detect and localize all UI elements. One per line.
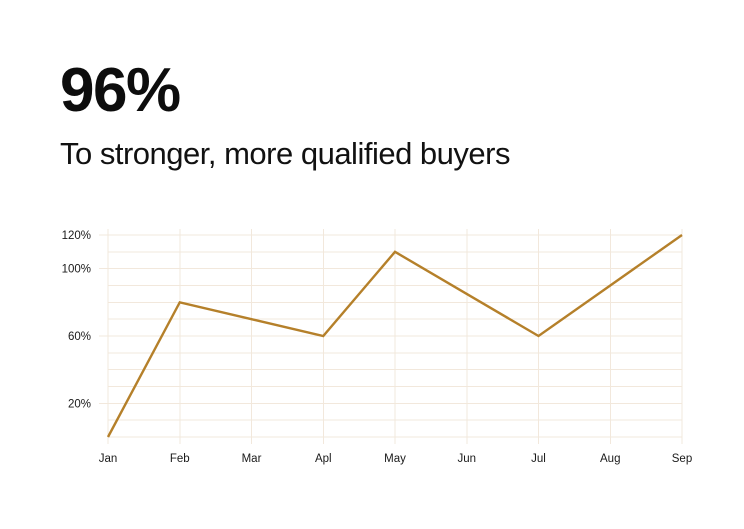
chart-canvas: 20%60%100%120% JanFebMarAplMayJunJulAugS… — [0, 205, 744, 485]
y-axis-tick-label: 20% — [68, 398, 91, 410]
line-chart: 20%60%100%120% JanFebMarAplMayJunJulAugS… — [0, 205, 744, 485]
y-axis-labels: 20%60%100%120% — [62, 230, 91, 410]
x-axis-tick-label: Feb — [170, 453, 190, 465]
x-axis-tick-label: Mar — [242, 453, 262, 465]
axis-tick-marks — [99, 235, 682, 444]
header-block: 96% To stronger, more qualified buyers — [60, 60, 700, 172]
y-axis-tick-label: 60% — [68, 331, 91, 343]
x-axis-labels: JanFebMarAplMayJunJulAugSep — [99, 453, 693, 465]
stat-card: 96% To stronger, more qualified buyers 2… — [0, 0, 744, 529]
x-axis-tick-label: Aug — [600, 453, 620, 465]
x-axis-tick-label: May — [384, 453, 406, 465]
headline-caption: To stronger, more qualified buyers — [60, 136, 700, 172]
x-axis-tick-label: Apl — [315, 453, 332, 465]
page-title: 96% — [60, 60, 700, 122]
x-axis-tick-label: Sep — [672, 453, 692, 465]
y-axis-tick-label: 100% — [62, 264, 91, 276]
y-axis-tick-label: 120% — [62, 230, 91, 242]
x-axis-tick-label: Jun — [457, 453, 476, 465]
x-axis-tick-label: Jan — [99, 453, 118, 465]
vertical-gridlines — [108, 229, 682, 437]
x-axis-tick-label: Jul — [531, 453, 546, 465]
